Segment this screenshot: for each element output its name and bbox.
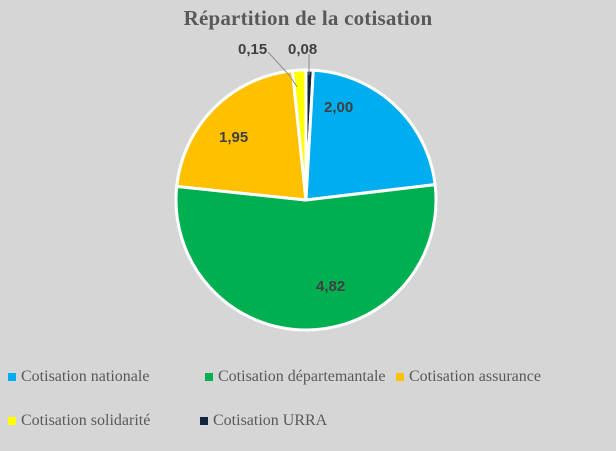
legend-item-cotisation-assurance[interactable]: Cotisation assurance xyxy=(396,366,541,388)
data-label-solidarite: 0,15 xyxy=(238,41,267,58)
legend-swatch-icon-urra xyxy=(200,417,208,425)
legend-swatch-icon-nationale xyxy=(8,373,16,381)
chart-legend: Cotisation nationale Cotisation départem… xyxy=(0,362,616,447)
data-label-assurance: 1,95 xyxy=(219,129,248,146)
pie-graphic xyxy=(0,30,616,355)
legend-item-cotisation-departementale[interactable]: Cotisation départemantale xyxy=(205,366,386,388)
legend-label-urra: Cotisation URRA xyxy=(213,412,327,430)
legend-swatch-icon-solidarite xyxy=(8,417,16,425)
data-label-nationale: 2,00 xyxy=(324,99,353,116)
legend-label-assurance: Cotisation assurance xyxy=(409,368,541,386)
legend-item-cotisation-solidarite[interactable]: Cotisation solidarité xyxy=(8,410,150,432)
data-label-urra: 0,08 xyxy=(288,41,317,58)
chart-title: Répartition de la cotisation xyxy=(0,6,616,31)
legend-item-cotisation-urra[interactable]: Cotisation URRA xyxy=(200,410,327,432)
legend-label-nationale: Cotisation nationale xyxy=(21,368,149,386)
pie-slice-3[interactable] xyxy=(176,185,436,330)
legend-swatch-icon-assurance xyxy=(396,373,404,381)
pie-chart-figure: Répartition de la cotisation 2,00 4,82 1… xyxy=(0,0,616,451)
plot-area: 2,00 4,82 1,95 0,15 0,08 xyxy=(0,30,616,355)
pie-slice-2[interactable] xyxy=(306,70,435,200)
pie-slices xyxy=(176,70,436,330)
legend-label-departementale: Cotisation départemantale xyxy=(218,368,386,386)
legend-item-cotisation-nationale[interactable]: Cotisation nationale xyxy=(8,366,149,388)
legend-row-2: Cotisation solidarité Cotisation URRA xyxy=(0,410,616,432)
legend-row-1: Cotisation nationale Cotisation départem… xyxy=(0,366,616,388)
data-label-departementale: 4,82 xyxy=(316,278,345,295)
legend-swatch-icon-departementale xyxy=(205,373,213,381)
legend-label-solidarite: Cotisation solidarité xyxy=(21,412,150,430)
